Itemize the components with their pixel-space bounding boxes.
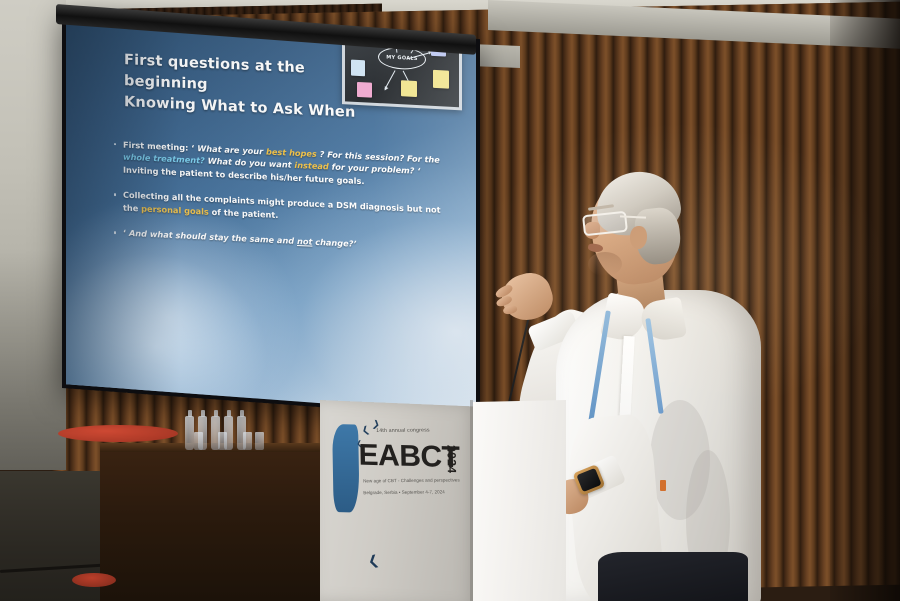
logo-subtitle-line-2: Belgrade, Serbia • September 4-7, 2024 xyxy=(363,489,445,495)
red-side-table xyxy=(58,425,178,442)
chin-shadow xyxy=(588,252,622,276)
logo-silhouette xyxy=(332,424,360,513)
watch-face xyxy=(576,468,601,492)
wood-counter xyxy=(100,447,340,601)
slide-bullet-list: First meeting: ‘ What are your best hope… xyxy=(112,138,442,268)
presentation-slide: First questions at the beginning Knowing… xyxy=(66,12,476,414)
bird-icon-1: ❮ xyxy=(361,426,371,437)
left-wall-shadow xyxy=(0,250,66,470)
trousers xyxy=(598,552,748,601)
logo-superscript: 14th annual congress xyxy=(376,427,430,434)
conference-photo-scene: First questions at the beginning Knowing… xyxy=(0,0,900,601)
red-table-base xyxy=(72,573,116,587)
bullet-complaints: Collecting all the complaints might prod… xyxy=(112,188,442,229)
podium-side-panel xyxy=(473,400,566,601)
lectern-podium: ❮ ❯ ❮ 14th annual congress EABCT 2024 Ne… xyxy=(320,400,566,601)
slide-title: First questions at the beginning Knowing… xyxy=(124,50,374,125)
bullet-stay-same: ‘ And what should stay the same and not … xyxy=(112,226,442,254)
right-wall-shadow xyxy=(830,0,900,601)
shirt-tag xyxy=(660,480,666,491)
projection-screen: First questions at the beginning Knowing… xyxy=(62,8,480,419)
bullet-first-meeting: First meeting: ‘ What are your best hope… xyxy=(112,138,442,191)
raised-hand xyxy=(496,267,558,326)
logo-year: 2024 xyxy=(444,445,458,474)
logo-subtitle-line-1: New age of CBT - Challenges and perspect… xyxy=(363,477,460,483)
water-bottles-group xyxy=(185,405,275,450)
eabct-logo: ❮ ❯ ❮ 14th annual congress EABCT 2024 Ne… xyxy=(332,418,466,533)
podium-bottom-bird-icon: ❮ xyxy=(368,555,388,576)
